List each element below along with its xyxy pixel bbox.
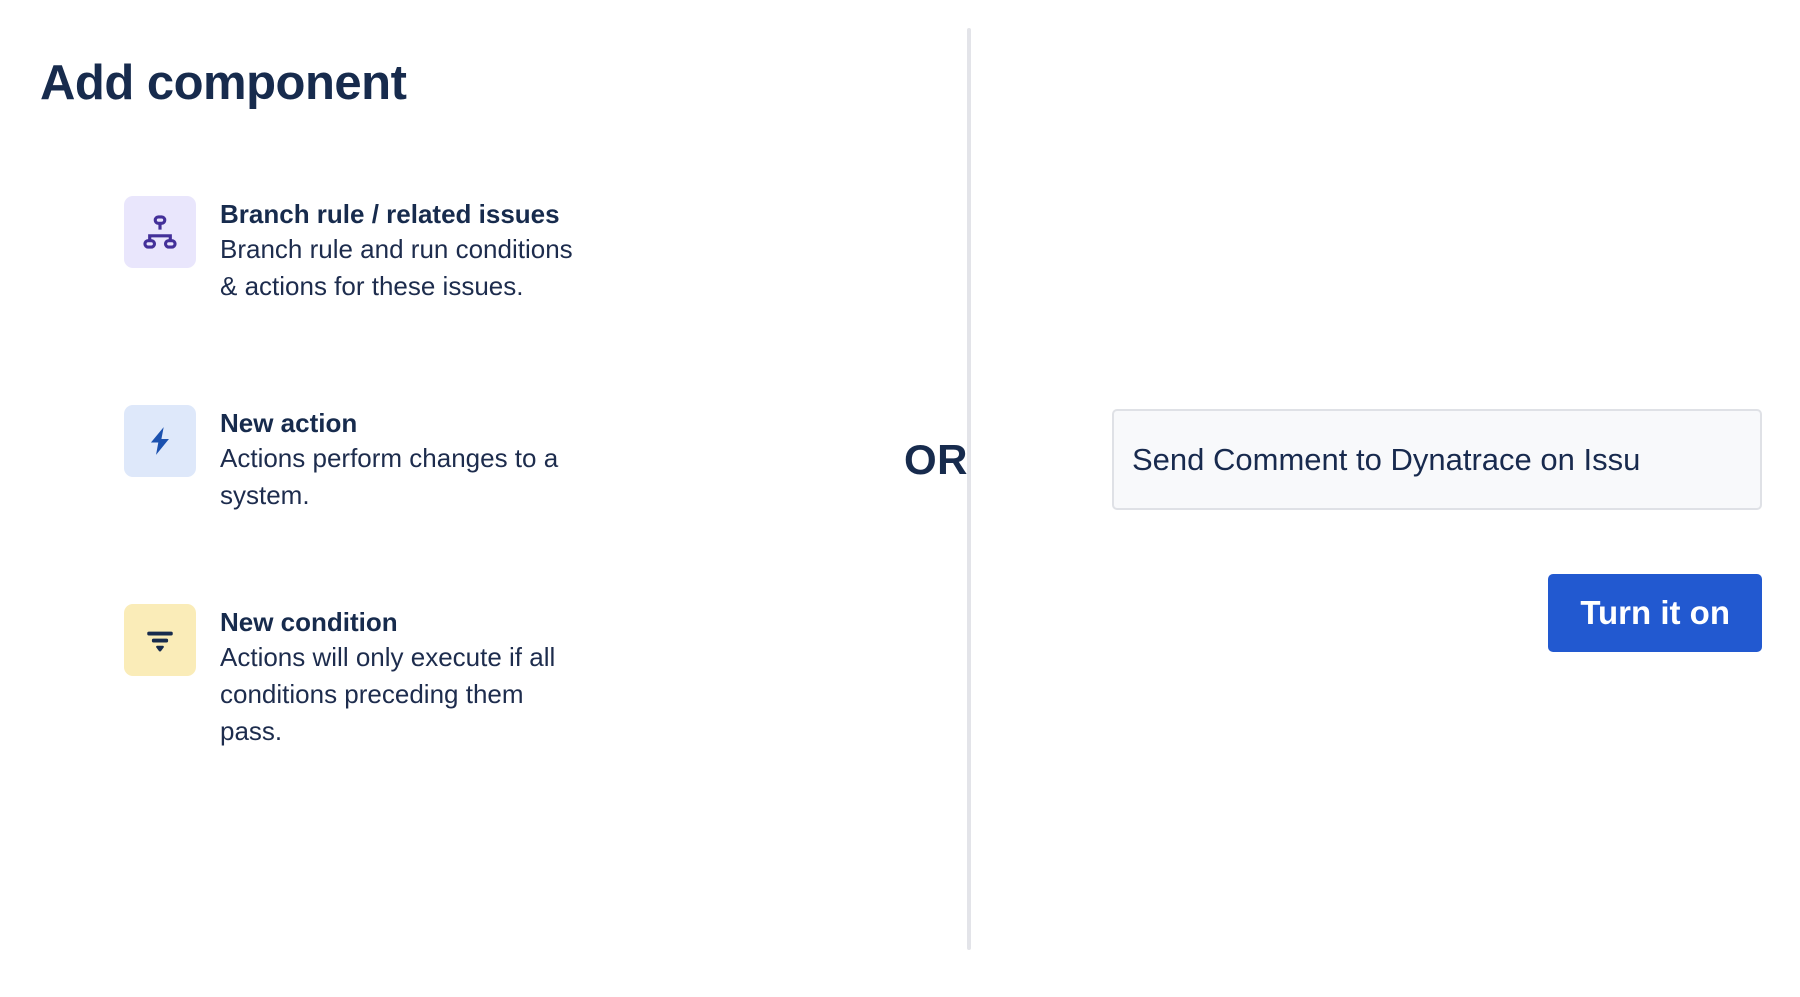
component-description: Actions will only execute if all conditi… [220,639,555,750]
or-separator-label: OR [904,436,968,484]
component-title: Branch rule / related issues [220,198,573,231]
rule-name-input-value: Send Comment to Dynatrace on Issu [1132,441,1640,478]
component-option-new-action[interactable]: New action Actions perform changes to a … [124,405,784,514]
component-title: New condition [220,606,555,639]
lightning-bolt-icon [124,405,196,477]
funnel-filter-icon [124,604,196,676]
component-list: Branch rule / related issues Branch rule… [124,196,784,750]
component-text-new-action: New action Actions perform changes to a … [220,405,558,514]
sitemap-icon [124,196,196,268]
right-panel: Send Comment to Dynatrace on Issu Turn i… [1112,409,1762,510]
vertical-divider [967,28,971,950]
component-title: New action [220,407,558,440]
turn-it-on-button[interactable]: Turn it on [1548,574,1762,652]
page-title: Add component [40,55,406,111]
component-option-new-condition[interactable]: New condition Actions will only execute … [124,604,784,750]
component-option-branch-rule[interactable]: Branch rule / related issues Branch rule… [124,196,784,305]
component-description: Actions perform changes to a system. [220,440,558,514]
rule-name-input[interactable]: Send Comment to Dynatrace on Issu [1112,409,1762,510]
component-description: Branch rule and run conditions & actions… [220,231,573,305]
component-text-new-condition: New condition Actions will only execute … [220,604,555,750]
component-text-branch-rule: Branch rule / related issues Branch rule… [220,196,573,305]
